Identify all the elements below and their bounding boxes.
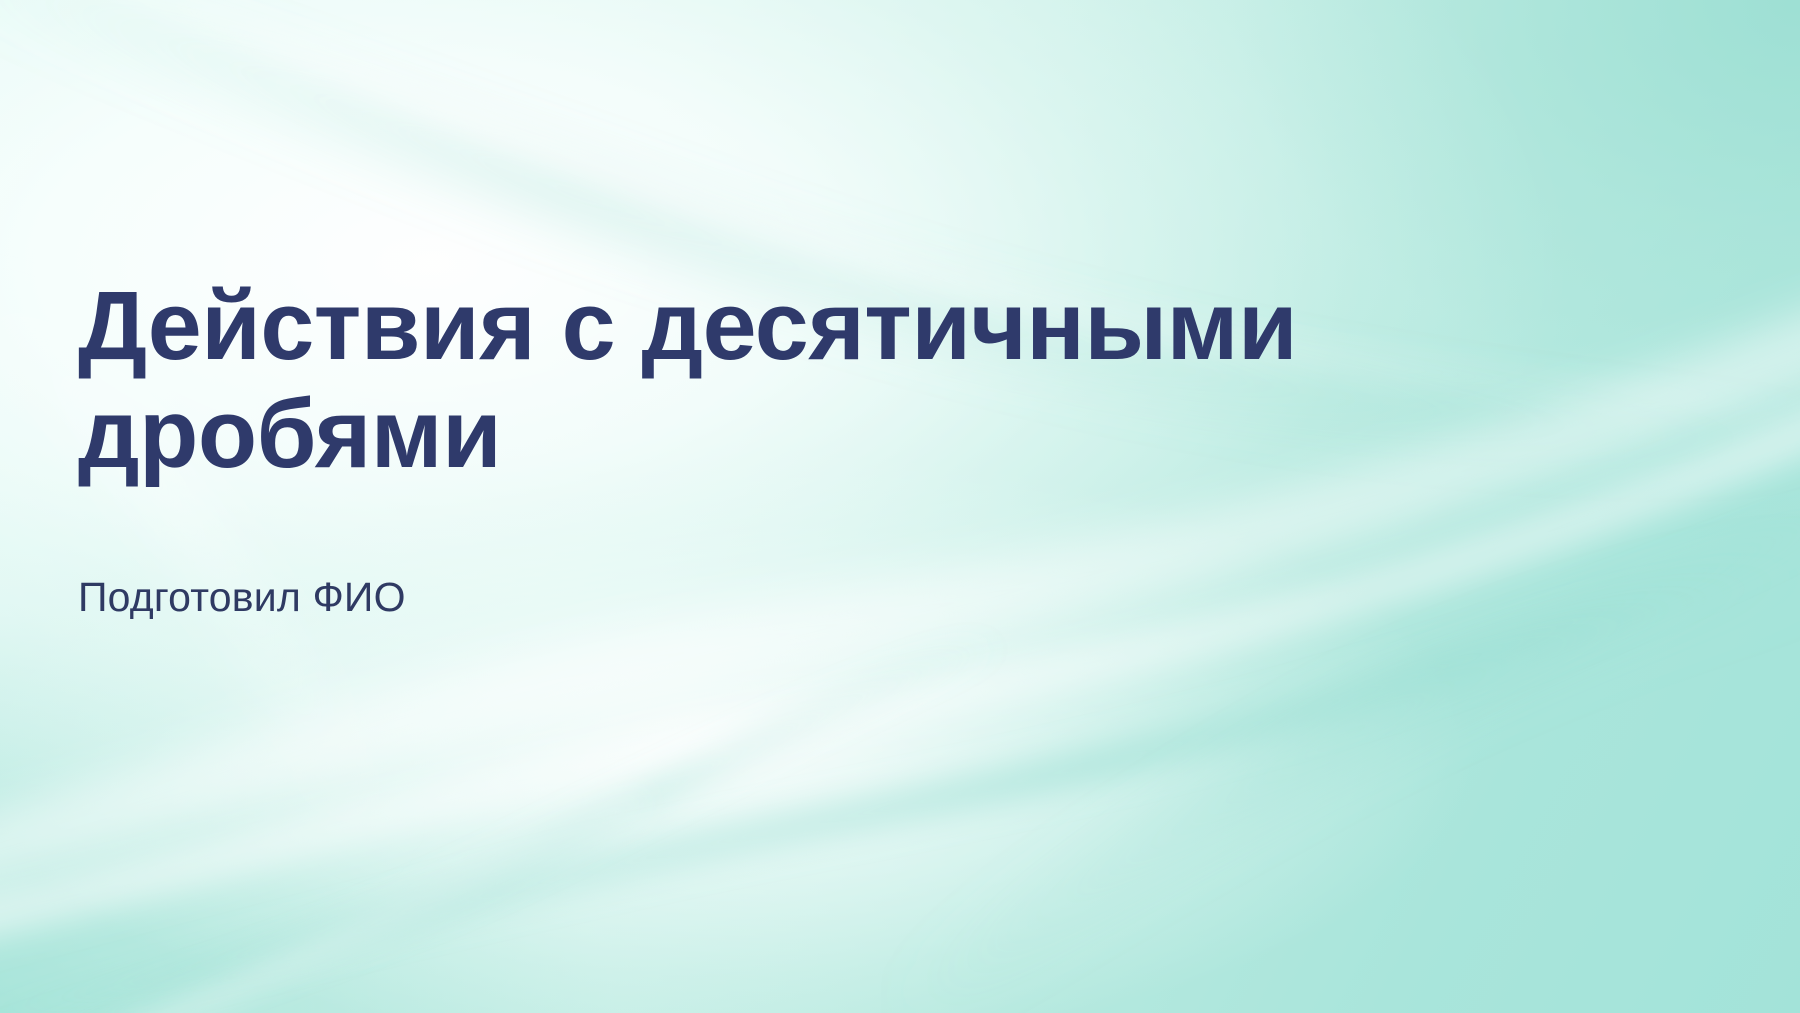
slide-subtitle: Подготовил ФИО: [78, 487, 1508, 622]
slide-content: Действия с десятичными дробями Подготови…: [78, 272, 1508, 623]
page-title: Действия с десятичными дробями: [78, 272, 1508, 487]
title-slide: Действия с десятичными дробями Подготови…: [0, 0, 1800, 1013]
